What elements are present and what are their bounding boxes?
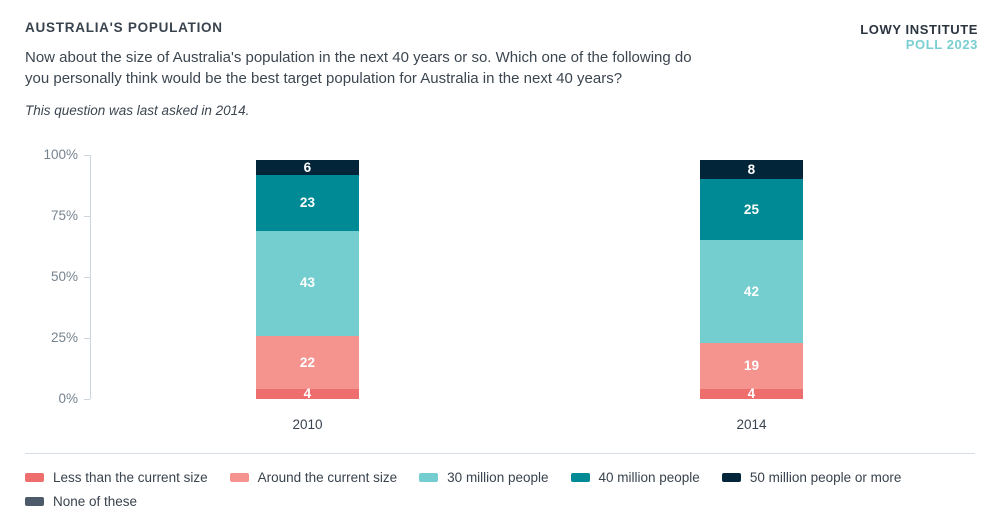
lowy-institute-logo: LOWY INSTITUTE POLL 2023 xyxy=(860,22,978,52)
bar-segment[interactable]: 22 xyxy=(256,336,359,390)
chart-header: AUSTRALIA'S POPULATION Now about the siz… xyxy=(25,20,975,118)
legend-label: 40 million people xyxy=(599,470,700,485)
bar-segment-value: 6 xyxy=(304,161,312,175)
bar-segment[interactable]: 43 xyxy=(256,231,359,336)
y-axis-line xyxy=(90,155,91,399)
bar-segment[interactable]: 19 xyxy=(700,343,803,389)
brand-name: LOWY INSTITUTE xyxy=(860,22,978,37)
legend-item[interactable]: 50 million people or more xyxy=(722,465,902,489)
stacked-bar-chart: 0%25%50%75%100% 623432242010825421942014 xyxy=(0,145,1000,425)
y-tick-label: 100% xyxy=(16,147,78,162)
legend-swatch xyxy=(571,473,590,482)
bar-segment[interactable]: 4 xyxy=(700,389,803,399)
legend-swatch xyxy=(25,473,44,482)
y-tick-label: 25% xyxy=(16,330,78,345)
y-tick-mark xyxy=(84,155,90,156)
bar-group: 623432242010 xyxy=(256,155,359,399)
bar-segment-value: 4 xyxy=(748,387,756,401)
legend-item[interactable]: None of these xyxy=(25,489,953,513)
bar-segment-value: 43 xyxy=(300,276,315,290)
question-subnote: This question was last asked in 2014. xyxy=(25,103,715,118)
y-tick-mark xyxy=(84,277,90,278)
bar-group: 825421942014 xyxy=(700,155,803,399)
legend-label: Less than the current size xyxy=(53,470,208,485)
legend-swatch xyxy=(419,473,438,482)
y-tick-label: 50% xyxy=(16,269,78,284)
legend-swatch xyxy=(722,473,741,482)
legend-label: Around the current size xyxy=(258,470,398,485)
stacked-bar[interactable]: 82542194 xyxy=(700,160,803,399)
y-tick-mark xyxy=(84,399,90,400)
legend-item[interactable]: Less than the current size xyxy=(25,465,208,489)
bar-segment-value: 4 xyxy=(304,387,312,401)
bar-segment[interactable]: 6 xyxy=(256,160,359,175)
bar-segment[interactable]: 4 xyxy=(256,389,359,399)
bar-segment-value: 25 xyxy=(744,203,759,217)
brand-poll-year: POLL 2023 xyxy=(860,37,978,52)
legend-item[interactable]: 40 million people xyxy=(571,465,700,489)
legend-label: None of these xyxy=(53,494,137,509)
chart-legend: Less than the current sizeAround the cur… xyxy=(25,465,975,513)
y-tick-label: 0% xyxy=(16,391,78,406)
bar-segment-value: 19 xyxy=(744,359,759,373)
x-tick-label: 2014 xyxy=(700,417,803,432)
y-tick-label: 75% xyxy=(16,208,78,223)
bar-segment-value: 23 xyxy=(300,196,315,210)
bar-segment[interactable]: 42 xyxy=(700,240,803,342)
question-text: Now about the size of Australia's popula… xyxy=(25,47,715,89)
legend-swatch xyxy=(25,497,44,506)
legend-label: 30 million people xyxy=(447,470,548,485)
x-tick-label: 2010 xyxy=(256,417,359,432)
legend-divider xyxy=(25,453,975,454)
bar-segment-value: 8 xyxy=(748,163,756,177)
legend-swatch xyxy=(230,473,249,482)
bar-segment-value: 22 xyxy=(300,356,315,370)
y-tick-mark xyxy=(84,338,90,339)
legend-label: 50 million people or more xyxy=(750,470,902,485)
bar-segment[interactable]: 8 xyxy=(700,160,803,180)
y-tick-mark xyxy=(84,216,90,217)
page-title: AUSTRALIA'S POPULATION xyxy=(25,20,975,35)
legend-item[interactable]: 30 million people xyxy=(419,465,548,489)
bar-segment[interactable]: 23 xyxy=(256,175,359,231)
legend-item[interactable]: Around the current size xyxy=(230,465,398,489)
bar-segment-value: 42 xyxy=(744,285,759,299)
bar-segment[interactable]: 25 xyxy=(700,179,803,240)
stacked-bar[interactable]: 62343224 xyxy=(256,160,359,399)
